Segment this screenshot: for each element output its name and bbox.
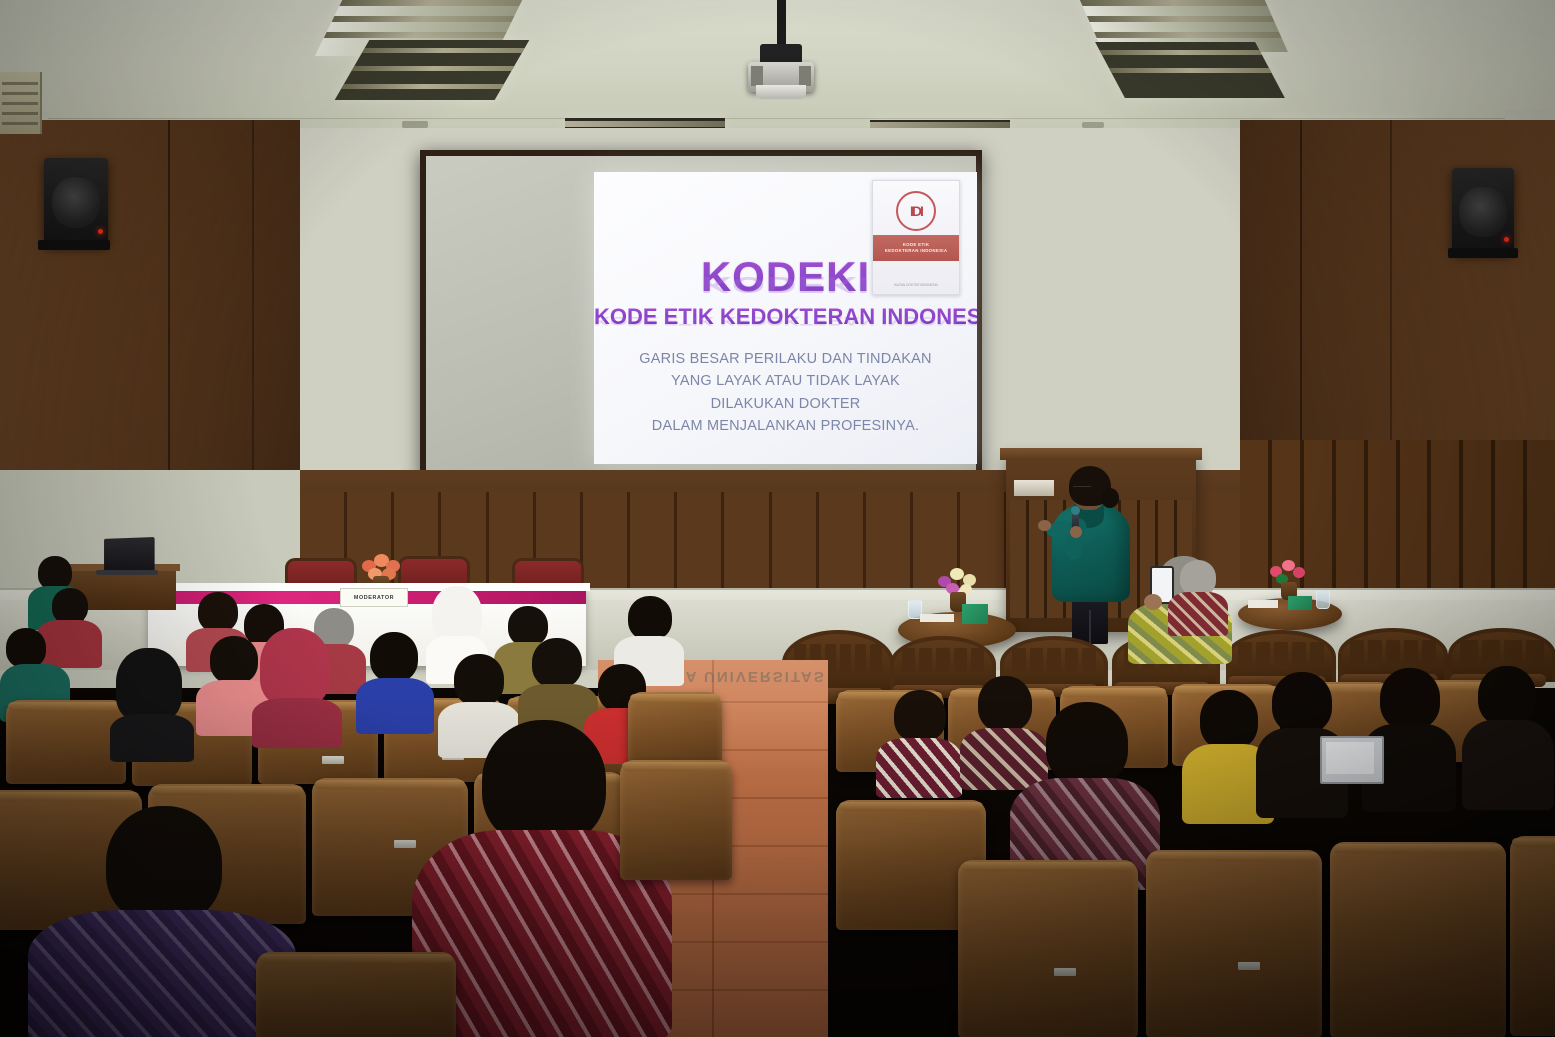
auditorium-seat[interactable] xyxy=(958,860,1138,1037)
podium-top-surface xyxy=(1000,448,1202,460)
presenter-right-hand xyxy=(1070,526,1082,538)
auditorium-seat[interactable] xyxy=(1146,850,1322,1037)
slide-subtitle-reflection: KODE ETIK KEDOKTERAN INDONESIA xyxy=(594,315,977,327)
slide-body-line: YANG LAYAK ATAU TIDAK LAYAK xyxy=(594,370,977,392)
projector-lens xyxy=(756,85,806,99)
presenter-hair-bun xyxy=(1101,488,1119,508)
projector-mount-rod xyxy=(777,0,786,48)
photographer-hand xyxy=(1144,594,1162,610)
audience-member-hijab xyxy=(252,628,342,736)
audience-member xyxy=(1462,666,1554,806)
slide-body-text: GARIS BESAR PERILAKU DAN TINDAKAN YANG L… xyxy=(594,348,977,438)
gift-box xyxy=(1288,596,1312,610)
audience-member-hijab xyxy=(110,648,194,748)
auditorium-scene: IDI KODE ETIK KEDOKTERAN INDONESIA IKATA… xyxy=(0,0,1555,1037)
glasses-icon xyxy=(1073,486,1091,492)
operator-laptop[interactable] xyxy=(104,537,155,573)
audience-member-foreground xyxy=(1010,702,1160,882)
ceiling-vent xyxy=(402,121,428,128)
auditorium-seat[interactable] xyxy=(256,952,456,1037)
attendee-laptop-screen-content xyxy=(1326,742,1374,774)
slide-body-line: GARIS BESAR PERILAKU DAN TINDAKAN xyxy=(594,348,977,370)
speaker-bracket-right xyxy=(1448,248,1518,258)
book-band-line2: KEDOKTERAN INDONESIA xyxy=(885,248,948,254)
slide-body-line: DILAKUKAN DOKTER xyxy=(594,393,977,415)
papers xyxy=(1248,600,1278,608)
presenter-left-hand xyxy=(1038,520,1051,531)
slide-body-line: DALAM MENJALANKAN PROFESINYA. xyxy=(594,415,977,437)
auditorium-seat[interactable] xyxy=(1510,836,1555,1036)
papers xyxy=(920,614,954,622)
wall-speaker-right xyxy=(1452,168,1514,254)
ceiling-light-panel xyxy=(1095,42,1285,98)
auditorium-seat[interactable] xyxy=(1330,842,1506,1037)
moderator-name-card: MODERATOR xyxy=(340,588,408,607)
speaker-bracket-left xyxy=(38,240,110,250)
wall-speaker-left xyxy=(44,158,108,246)
idi-logo-icon: IDI xyxy=(896,191,936,231)
air-conditioner-unit xyxy=(0,72,42,134)
water-glass xyxy=(1316,590,1330,609)
audience-member xyxy=(1168,560,1228,630)
gift-box xyxy=(962,604,988,624)
presenter xyxy=(1046,470,1138,635)
projected-slide: IDI KODE ETIK KEDOKTERAN INDONESIA IKATA… xyxy=(594,172,977,464)
operator-laptop-base[interactable] xyxy=(96,570,158,575)
auditorium-seat[interactable] xyxy=(620,760,732,880)
audience-member xyxy=(876,690,962,794)
slide-title-reflection: KODEKI xyxy=(594,273,977,296)
auditorium-seat[interactable] xyxy=(6,700,126,784)
audience-member xyxy=(356,632,434,730)
